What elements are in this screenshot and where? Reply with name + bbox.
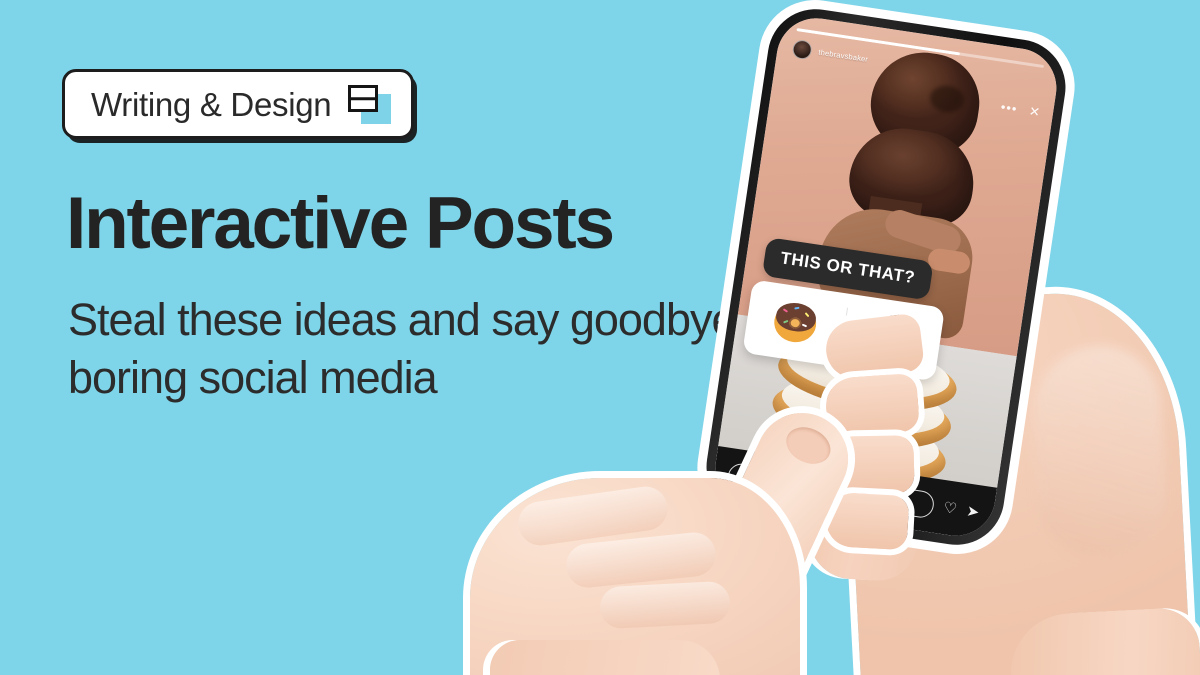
category-badge-label: Writing & Design (91, 88, 331, 121)
send-icon[interactable]: ➤ (966, 503, 981, 520)
close-icon[interactable]: ✕ (1028, 104, 1041, 118)
poster-canvas: Writing & Design Interactive Posts Steal… (0, 0, 1200, 675)
doughnut-emoji (772, 299, 820, 347)
story-username[interactable]: thebravsbaker (818, 48, 869, 64)
layout-rows-icon (347, 83, 391, 125)
category-badge[interactable]: Writing & Design (62, 69, 414, 139)
avatar[interactable] (791, 39, 813, 61)
page-title: Interactive Posts (66, 186, 613, 262)
pointing-hand-wrist (490, 640, 720, 675)
page-subtitle: Steal these ideas and say goodbye to bor… (68, 291, 808, 406)
pointing-hand (470, 420, 900, 675)
more-options-icon[interactable]: ••• (1000, 100, 1018, 115)
